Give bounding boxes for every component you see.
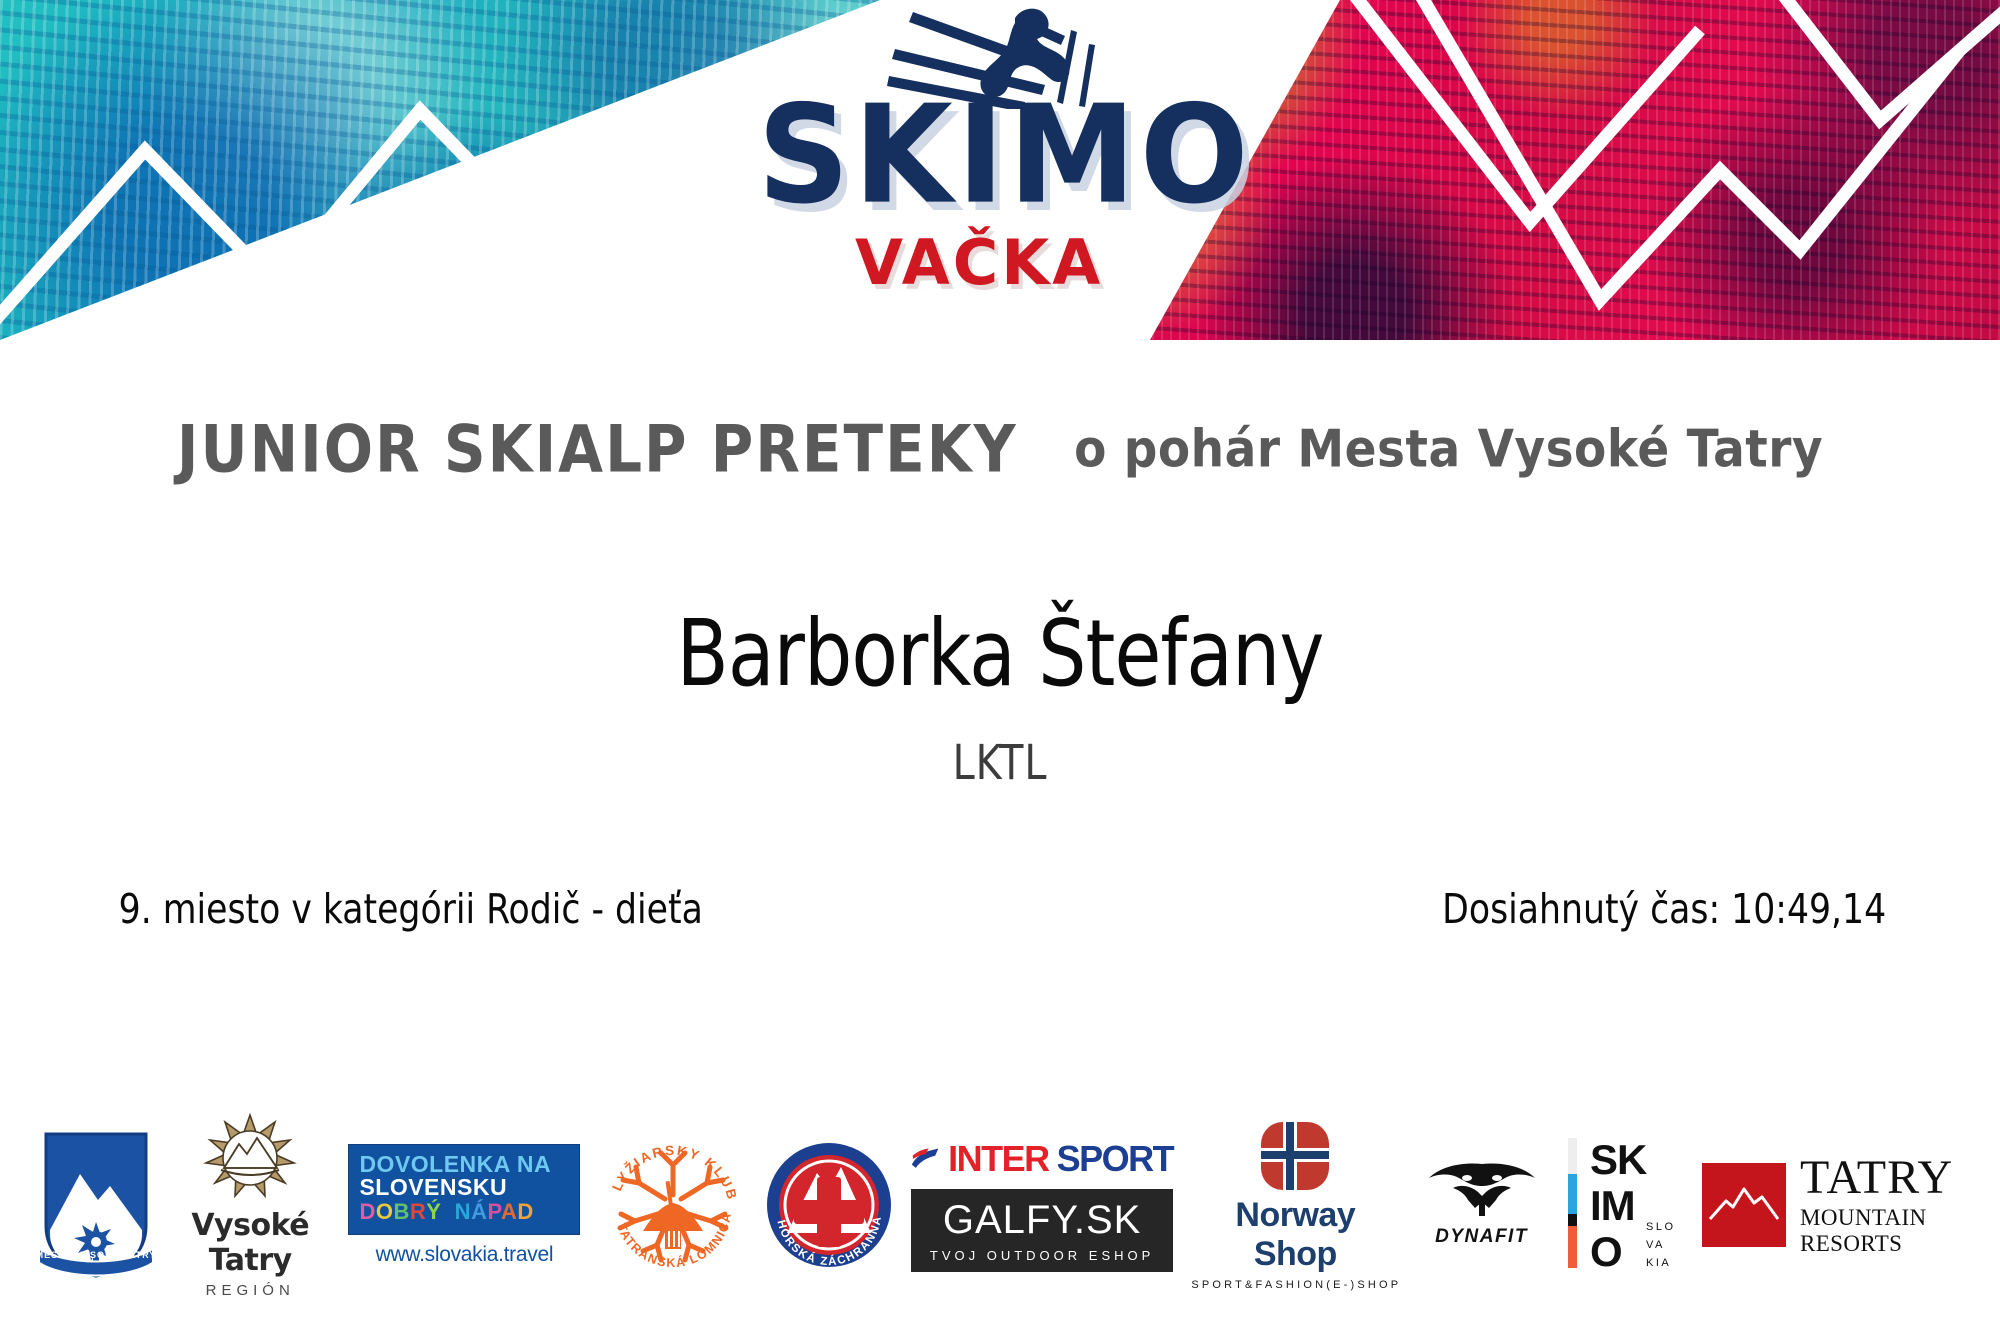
slovakia-travel-line1: DOVOLENKA NA [359,1153,569,1177]
tmr-text-block: TATRY MOUNTAIN RESORTS [1800,1154,1970,1257]
skimo-slovakia-country-l1: SLO [1646,1221,1676,1233]
result-time: Dosiahnutý čas: 10:49,14 [1442,885,1886,933]
sponsor-logo-lyziarsky-klub-tatranska-lomnica: LYŽIARSKY KLUB TATRANSKÁ LOMNICA [599,1131,747,1279]
event-title-sub: o pohár Mesta Vysoké Tatry [1074,419,1823,480]
tmr-line2: MOUNTAIN RESORTS [1800,1205,1970,1257]
sponsor-logo-strip: MESTO VYSOKÉ TATRY Vysoké Tatry REGIÓN D… [40,1105,1970,1305]
athlete-club: LKTL [80,735,1920,791]
intersport-swoosh-icon [911,1146,940,1172]
sponsor-logo-tatry-mountain-resorts: TATRY MOUNTAIN RESORTS [1702,1154,1970,1257]
vacka-wordmark: VAČKA [855,232,1275,294]
event-title-row: JUNIOR SKIALP PRETEKY o pohár Mesta Vyso… [0,415,2000,483]
dynafit-leopard-icon [1423,1162,1541,1224]
galfy-tagline: TVOJ OUTDOOR ESHOP [917,1248,1167,1263]
intersport-part2: SPORT [1057,1138,1174,1180]
skimo-slovakia-line1: SK [1590,1136,1647,1183]
skimo-slovakia-country-l3: KIA [1646,1257,1671,1269]
result-row: 9. miesto v kategórii Rodič - dieťa Dosi… [100,885,1900,933]
result-placement: 9. miesto v kategórii Rodič - dieťa [119,885,703,933]
skimo-slovakia-line2: IM [1590,1182,1635,1229]
athlete-name: Barborka Štefany [80,600,1920,707]
slovakia-travel-line3: DOBRÝ NÁPAD [359,1200,569,1224]
galfy-name: GALFY.SK [917,1200,1167,1240]
event-title-main: JUNIOR SKIALP PRETEKY [177,411,1018,487]
mountain-rescue-shield-icon: HORSKÁ ZÁCHRANNÁ SLUŽBA [765,1131,893,1279]
skimo-slovakia-icon: SK IM O SLO VA KIA [1564,1130,1684,1280]
skimo-slovakia-line3: O [1590,1228,1622,1275]
sponsor-logo-slovakia-travel: DOVOLENKA NA SLOVENSKU DOBRÝ NÁPAD www.s… [348,1144,580,1267]
lyziarsky-klub-snowflake-icon: LYŽIARSKY KLUB TATRANSKÁ LOMNICA [599,1131,747,1279]
sponsor-logo-skimo-slovakia: SK IM O SLO VA KIA [1564,1130,1684,1280]
slovakia-travel-line2: SLOVENSKU [359,1176,569,1200]
tmr-red-square [1702,1163,1786,1247]
sponsor-logo-vysoke-tatry-region: Vysoké Tatry REGIÓN [170,1112,330,1299]
mesto-vysoke-tatry-ribbon-text: MESTO VYSOKÉ TATRY [32,1244,160,1278]
vysoke-tatry-subtitle: REGIÓN [170,1282,330,1299]
intersport-part1: INTER [948,1138,1049,1180]
sponsor-logo-horska-zachranna-sluzba: HORSKÁ ZÁCHRANNÁ SLUŽBA [765,1131,893,1279]
slovakia-travel-box: DOVOLENKA NA SLOVENSKU DOBRÝ NÁPAD [348,1144,580,1235]
vysoke-tatry-name: Vysoké Tatry [170,1208,330,1278]
norway-shop-tagline: SPORT&FASHION(E-)SHOP [1191,1279,1399,1291]
header-banner: SKIMO VAČKA [0,0,2000,340]
skimo-slovakia-country-l2: VA [1646,1239,1665,1251]
slovakia-travel-url: www.slovakia.travel [348,1243,580,1267]
edelweiss-mountain-icon [191,1112,309,1204]
sponsor-logo-intersport: INTERSPORT [911,1138,1173,1180]
tmr-mountain-icon [1702,1163,1786,1247]
tmr-line1: TATRY [1800,1154,1970,1202]
skimo-wordmark: SKIMO [735,88,1275,224]
dynafit-name: DYNAFIT [1418,1226,1546,1248]
sponsor-logo-dynafit: DYNAFIT [1418,1162,1546,1248]
norway-shop-name: Norway Shop [1191,1196,1399,1274]
sponsor-logo-mesto-vysoke-tatry: MESTO VYSOKÉ TATRY [40,1130,152,1280]
sponsor-logo-intersport-galfy-stack: INTERSPORT GALFY.SK TVOJ OUTDOOR ESHOP [911,1138,1173,1272]
skimo-logo: SKIMO VAČKA [735,4,1275,334]
norway-flag-icon [1259,1120,1331,1192]
sponsor-logo-galfy: GALFY.SK TVOJ OUTDOOR ESHOP [911,1189,1173,1272]
sponsor-logo-norway-shop: Norway Shop SPORT&FASHION(E-)SHOP [1191,1120,1399,1291]
